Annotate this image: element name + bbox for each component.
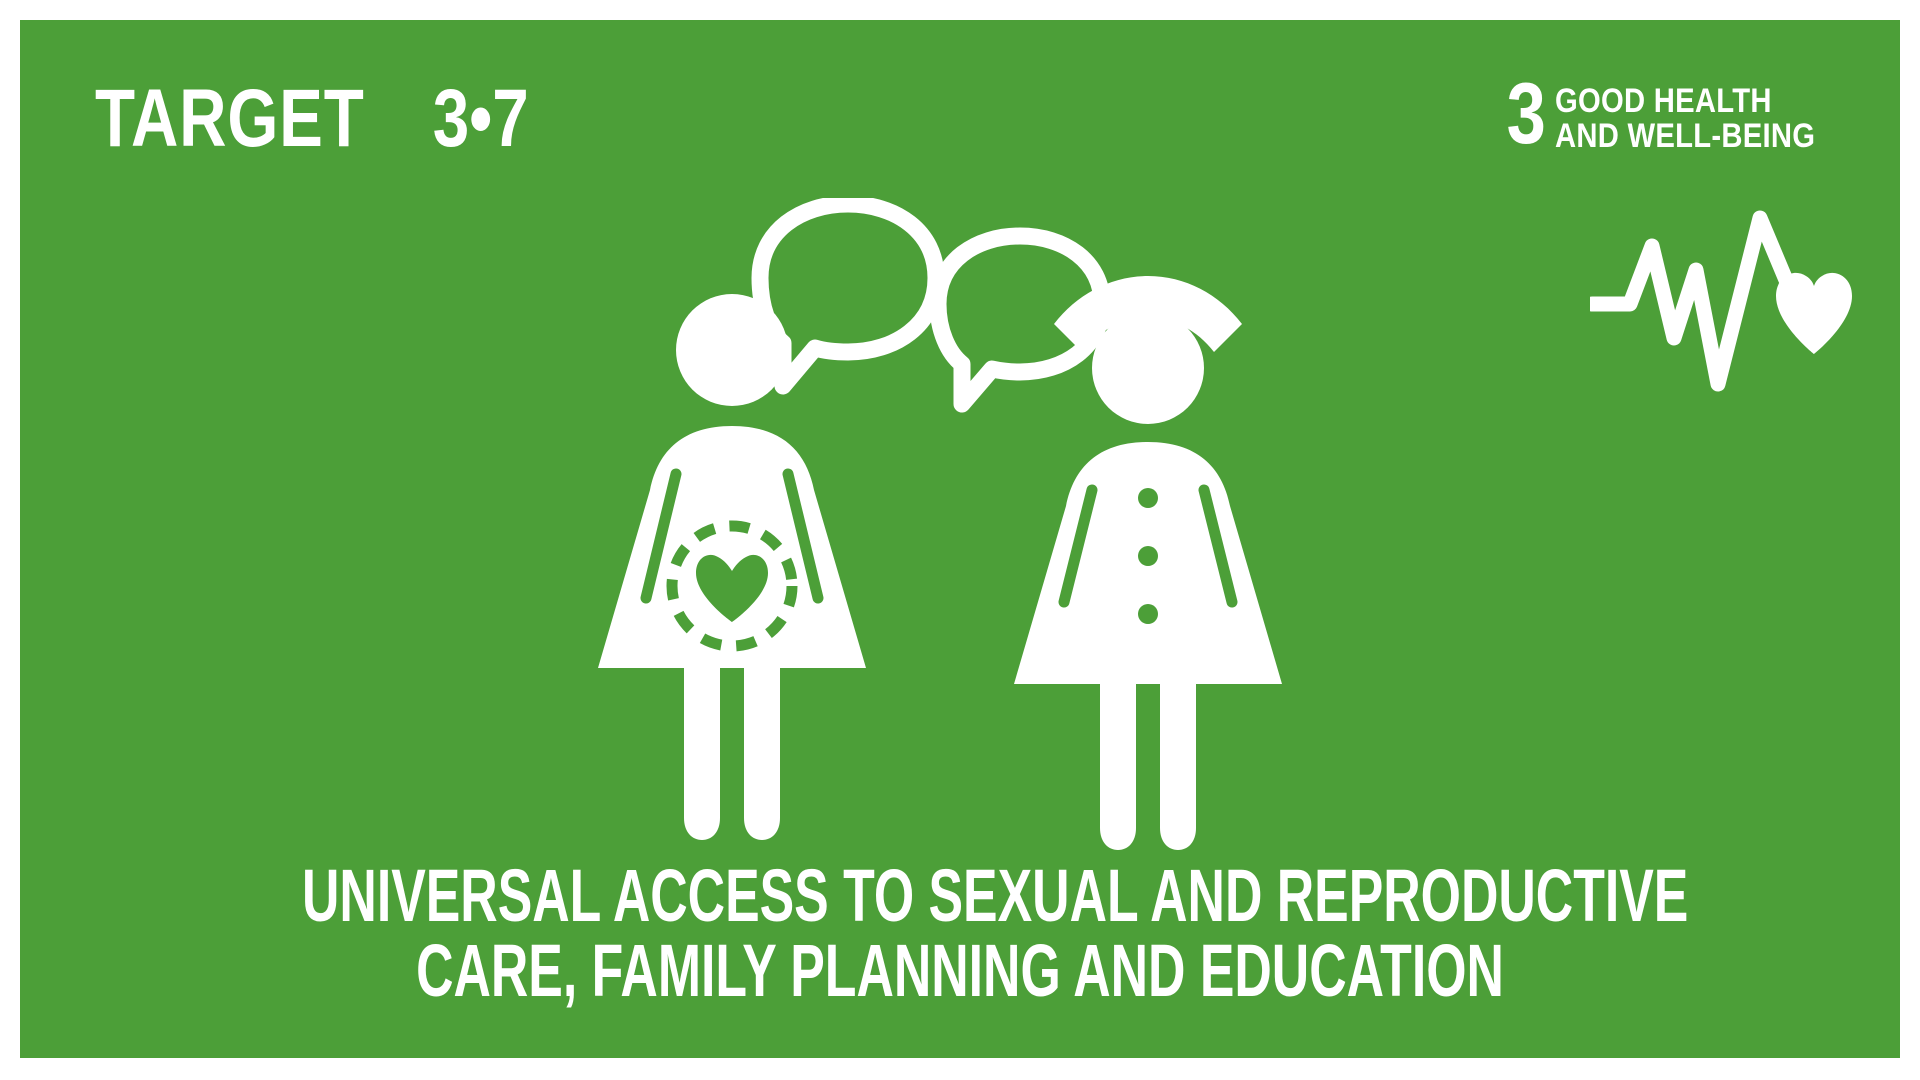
goal-number: 3 <box>1506 78 1545 152</box>
pictogram-group <box>580 198 1340 858</box>
target-label: TARGET 3•7 <box>95 78 564 160</box>
pregnant-woman-head <box>676 294 788 406</box>
sdg-target-card: TARGET 3•7 3 GOOD HEALTH AND WELL-BEING <box>20 20 1900 1058</box>
goal-title: GOOD HEALTH AND WELL-BEING <box>1555 78 1858 155</box>
nurse-head <box>1092 312 1204 424</box>
goal-badge: 3 GOOD HEALTH AND WELL-BEING <box>1498 78 1858 155</box>
nurse-leg-right <box>1160 684 1196 850</box>
nurse-button-2 <box>1138 546 1158 566</box>
pregnant-woman-icon <box>598 294 866 840</box>
goal-title-line-1: GOOD HEALTH <box>1555 84 1815 119</box>
pregnant-woman-dress <box>598 426 866 668</box>
nurse-button-1 <box>1138 488 1158 508</box>
target-number: 3•7 <box>388 78 529 160</box>
nurse-leg-left <box>1100 684 1136 850</box>
pregnant-woman-leg-left <box>684 668 720 840</box>
heartbeat-ecg-icon <box>1590 208 1860 393</box>
caption-line-2: CARE, FAMILY PLANNING AND EDUCATION <box>302 933 1618 1008</box>
caption: UNIVERSAL ACCESS TO SEXUAL AND REPRODUCT… <box>20 858 1900 1009</box>
speech-bubbles-icon <box>760 204 1102 404</box>
pregnant-woman-leg-right <box>744 668 780 840</box>
nurse-button-3 <box>1138 604 1158 624</box>
caption-line-1: UNIVERSAL ACCESS TO SEXUAL AND REPRODUCT… <box>302 858 1618 933</box>
goal-title-line-2: AND WELL-BEING <box>1555 119 1815 154</box>
target-word: TARGET <box>95 78 365 160</box>
